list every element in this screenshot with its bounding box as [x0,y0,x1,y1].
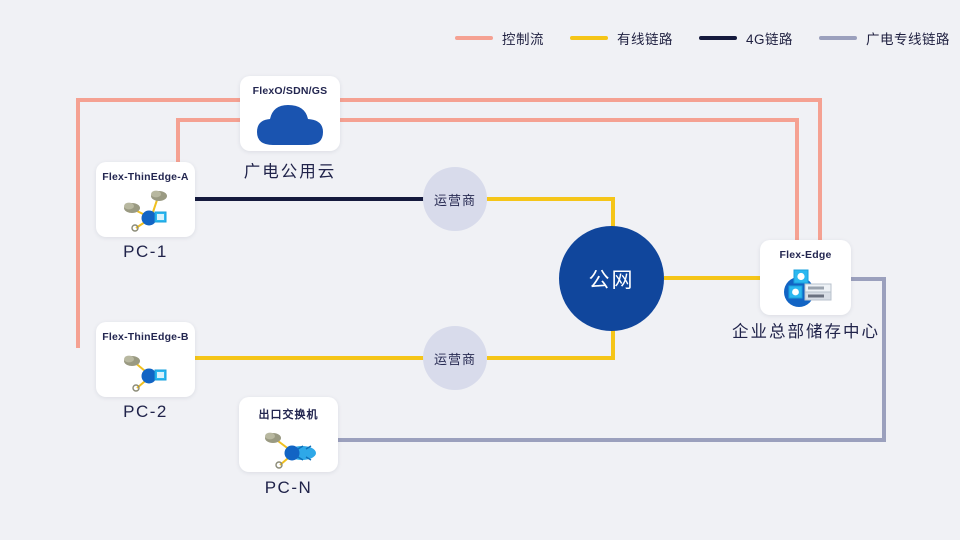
public-network-label: 公网 [589,264,635,294]
operator-node-top[interactable]: 运营商 [423,167,487,231]
node-card-public-cloud[interactable]: FlexO/SDN/GS [240,76,340,151]
node-label-pcn: PC-N [239,478,338,498]
thinedge-device-icon [96,183,195,237]
storage-server-icon [760,261,851,315]
line-swatch-icon [819,36,857,40]
line-swatch-icon [699,36,737,40]
node-card-pc1[interactable]: Flex-ThinEdge-A [96,162,195,237]
operator-label: 运营商 [434,190,476,209]
node-label-public-cloud: 广电公用云 [230,158,350,182]
cloud-icon [240,97,340,151]
link-wired-operator-top-public [487,199,613,228]
line-swatch-icon [570,36,608,40]
public-network-node[interactable]: 公网 [559,226,664,331]
legend-label: 控制流 [502,28,544,48]
operator-label: 运营商 [434,349,476,368]
node-card-pcn[interactable]: 出口交换机 [239,397,338,472]
legend: 控制流 有线链路 4G链路 广电专线链路 [455,28,950,48]
node-label-pc1: PC-1 [96,242,195,262]
node-card-title: Flex-ThinEdge-A [102,171,188,183]
legend-item-wired-link: 有线链路 [570,28,673,48]
thinedge-device-icon [96,343,195,397]
link-wired-operator-bottom-public [487,329,613,358]
egress-switch-icon [239,422,338,472]
node-card-flex-edge[interactable]: Flex-Edge [760,240,851,315]
node-card-title: Flex-ThinEdge-B [102,331,188,343]
node-label-pc2: PC-2 [96,402,195,422]
legend-label: 广电专线链路 [866,28,950,48]
node-card-pc2[interactable]: Flex-ThinEdge-B [96,322,195,397]
node-card-title: 出口交换机 [259,406,319,422]
legend-label: 有线链路 [617,28,673,48]
legend-label: 4G链路 [746,28,793,48]
line-swatch-icon [455,36,493,40]
legend-item-control-flow: 控制流 [455,28,544,48]
legend-item-4g-link: 4G链路 [699,28,793,48]
node-card-title: FlexO/SDN/GS [253,85,328,97]
network-diagram-canvas: 控制流 有线链路 4G链路 广电专线链路 FlexO/SDN/GS 广电公用云 … [0,0,960,540]
node-card-title: Flex-Edge [780,249,832,261]
operator-node-bottom[interactable]: 运营商 [423,326,487,390]
node-label-flex-edge: 企业总部储存中心 [715,318,897,342]
legend-item-broadcast-line: 广电专线链路 [819,28,950,48]
